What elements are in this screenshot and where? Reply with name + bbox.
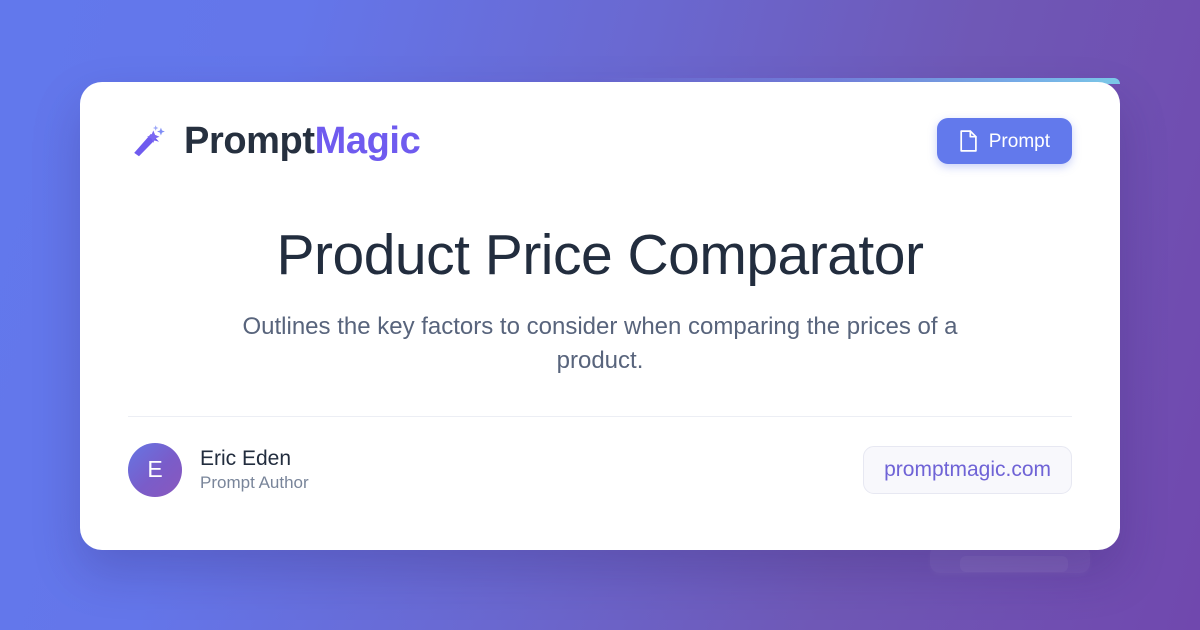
author-block: E Eric Eden Prompt Author <box>128 443 309 497</box>
brand-word-magic: Magic <box>315 120 421 162</box>
avatar: E <box>128 443 182 497</box>
magic-wand-icon <box>128 120 170 162</box>
card-footer: E Eric Eden Prompt Author promptmagic.co… <box>128 417 1072 497</box>
site-url-badge[interactable]: promptmagic.com <box>863 446 1072 494</box>
author-role: Prompt Author <box>200 474 309 493</box>
brand-word-prompt: Prompt <box>184 120 315 162</box>
background-shadow-artifact-inner <box>960 556 1068 572</box>
brand-wordmark: PromptMagic <box>184 122 420 160</box>
card-main-content: Product Price Comparator Outlines the ke… <box>128 200 1072 378</box>
share-card: PromptMagic Prompt Product Price Compara… <box>80 82 1120 550</box>
brand-logo[interactable]: PromptMagic <box>128 120 420 162</box>
prompt-button-label: Prompt <box>989 132 1050 151</box>
page-background: PromptMagic Prompt Product Price Compara… <box>0 0 1200 630</box>
card-header: PromptMagic Prompt <box>128 82 1072 200</box>
page-subtitle: Outlines the key factors to consider whe… <box>205 310 995 378</box>
document-file-icon <box>959 130 978 152</box>
author-name: Eric Eden <box>200 447 309 470</box>
prompt-button[interactable]: Prompt <box>937 118 1072 164</box>
page-title: Product Price Comparator <box>128 224 1072 288</box>
author-meta: Eric Eden Prompt Author <box>200 447 309 493</box>
